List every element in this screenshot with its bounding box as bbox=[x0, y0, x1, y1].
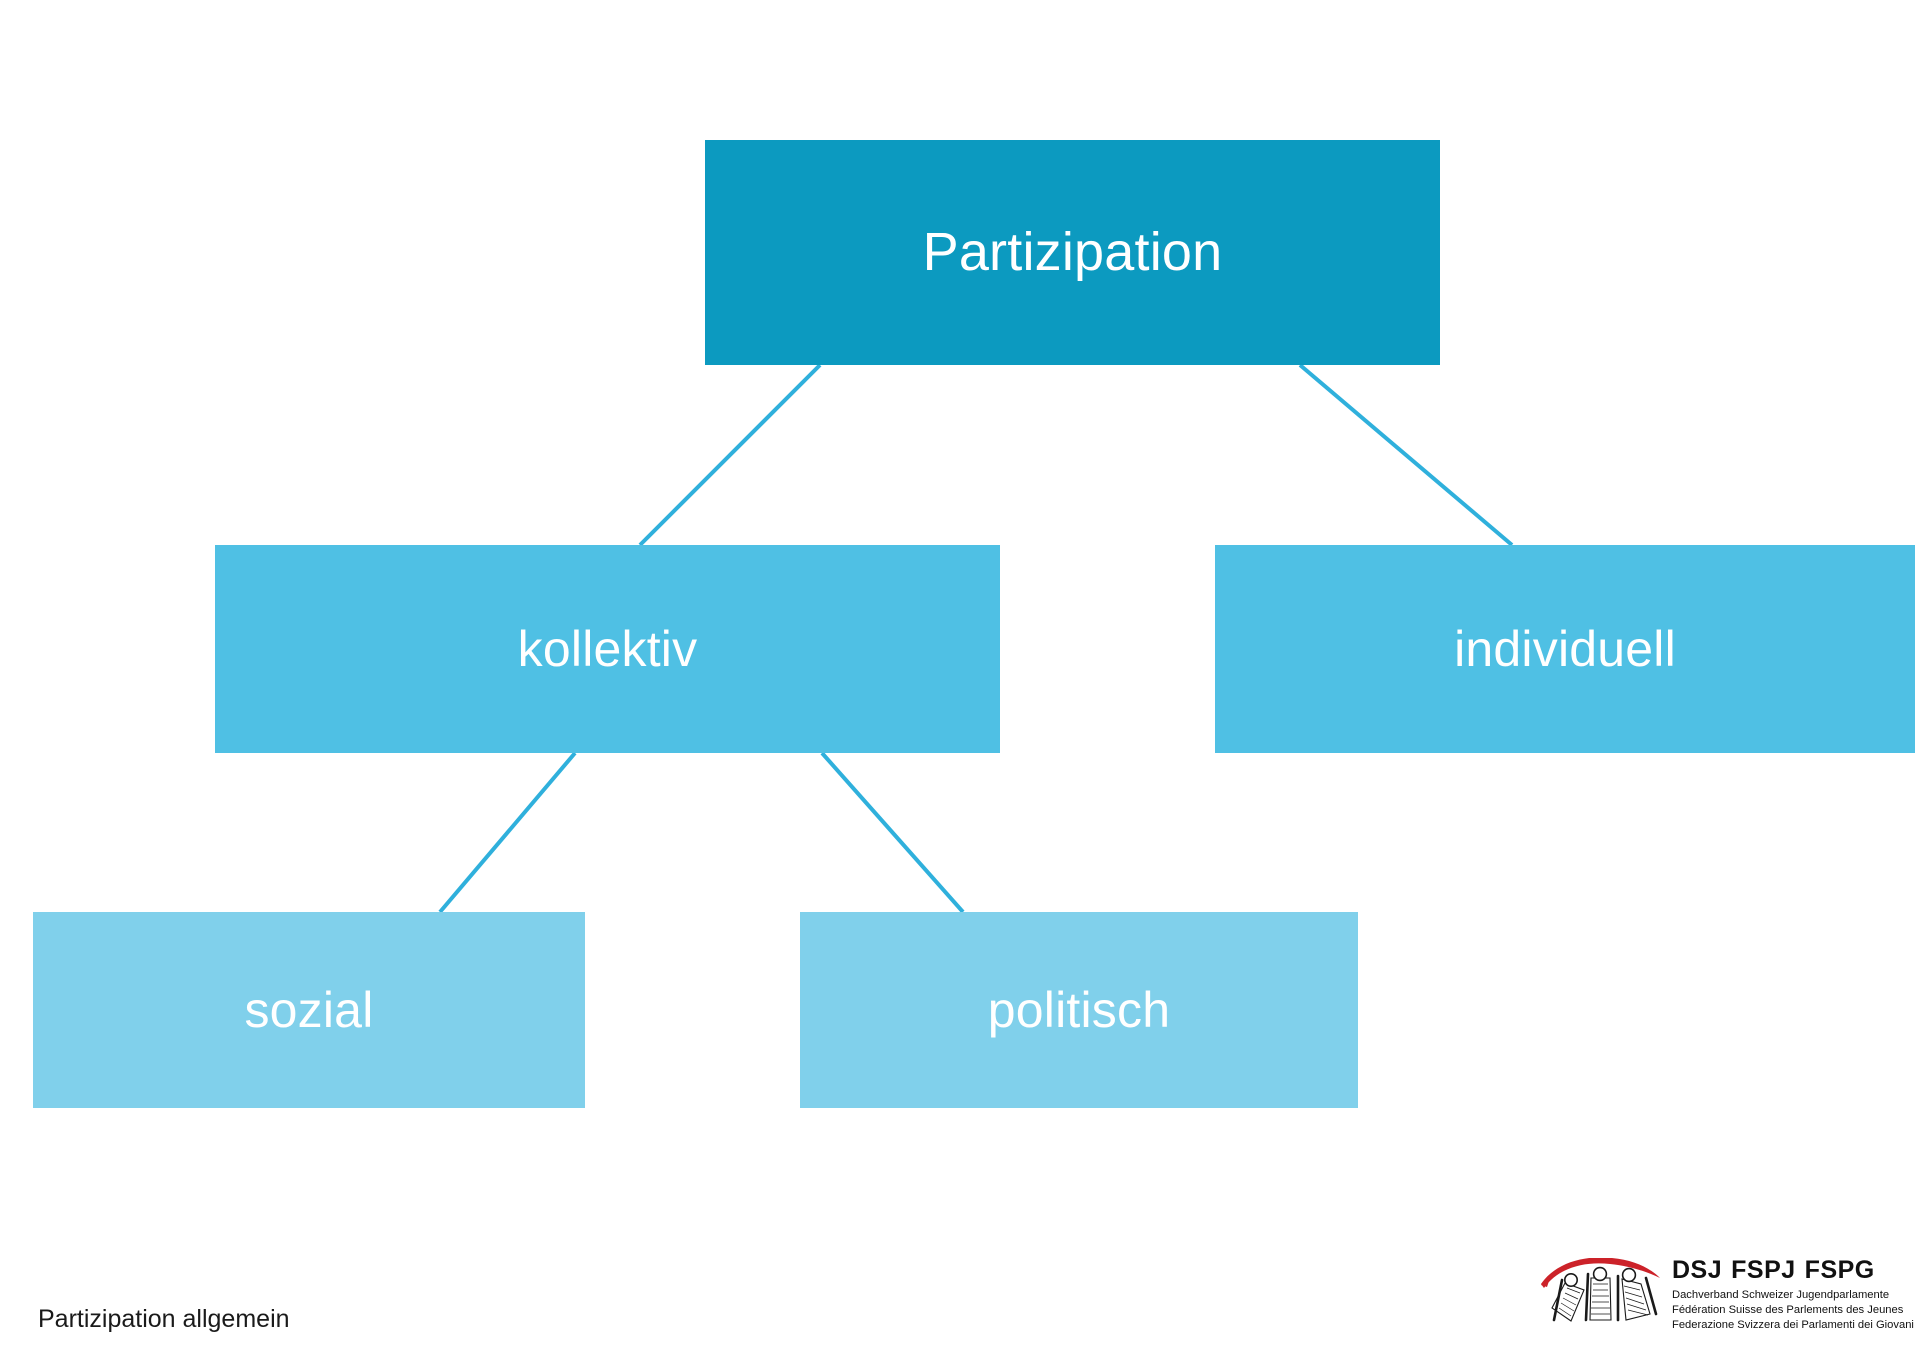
dsj-logo-acronym-de: DSJ bbox=[1672, 1256, 1722, 1284]
dsj-logo-mark bbox=[1538, 1258, 1668, 1332]
node-sozial[interactable]: sozial bbox=[33, 912, 585, 1108]
dsj-logo-acronym-it: FSPG bbox=[1805, 1256, 1875, 1284]
dsj-logo-text: DSJFSPJFSPG Dachverband Schweizer Jugend… bbox=[1672, 1258, 1900, 1333]
node-partizipation-label: Partizipation bbox=[923, 223, 1223, 282]
node-individuell-label: individuell bbox=[1454, 622, 1676, 677]
edge-partizipation-individuell bbox=[1300, 365, 1512, 545]
logo-figure-3-icon bbox=[1618, 1269, 1656, 1320]
node-sozial-label: sozial bbox=[244, 983, 373, 1038]
dsj-logo-acronym-fr: FSPJ bbox=[1731, 1256, 1796, 1284]
node-individuell[interactable]: individuell bbox=[1215, 545, 1915, 753]
dsj-logo-acronyms: DSJFSPJFSPG bbox=[1672, 1258, 1900, 1283]
footer-caption: Partizipation allgemein bbox=[38, 1305, 290, 1334]
node-kollektiv-label: kollektiv bbox=[518, 622, 698, 677]
logo-figure-2-icon bbox=[1586, 1268, 1611, 1320]
edge-kollektiv-politisch bbox=[822, 753, 963, 912]
node-politisch-label: politisch bbox=[988, 983, 1170, 1038]
slide-canvas: Partizipation kollektiv individuell sozi… bbox=[0, 0, 1920, 1357]
dsj-logo-subtitles: Dachverband Schweizer Jugendparlamente F… bbox=[1672, 1288, 1900, 1333]
dsj-logo-subtitle-fr: Fédération Suisse des Parlements des Jeu… bbox=[1672, 1303, 1900, 1318]
dsj-logo: DSJFSPJFSPG Dachverband Schweizer Jugend… bbox=[1538, 1258, 1898, 1338]
edge-kollektiv-sozial bbox=[440, 753, 575, 912]
edge-partizipation-kollektiv bbox=[640, 365, 820, 545]
dsj-logo-subtitle-de: Dachverband Schweizer Jugendparlamente bbox=[1672, 1288, 1900, 1303]
logo-figure-1-icon bbox=[1552, 1274, 1584, 1321]
node-kollektiv[interactable]: kollektiv bbox=[215, 545, 1000, 753]
node-politisch[interactable]: politisch bbox=[800, 912, 1358, 1108]
dsj-logo-subtitle-it: Federazione Svizzera dei Parlamenti dei … bbox=[1672, 1318, 1900, 1333]
node-partizipation[interactable]: Partizipation bbox=[705, 140, 1440, 365]
